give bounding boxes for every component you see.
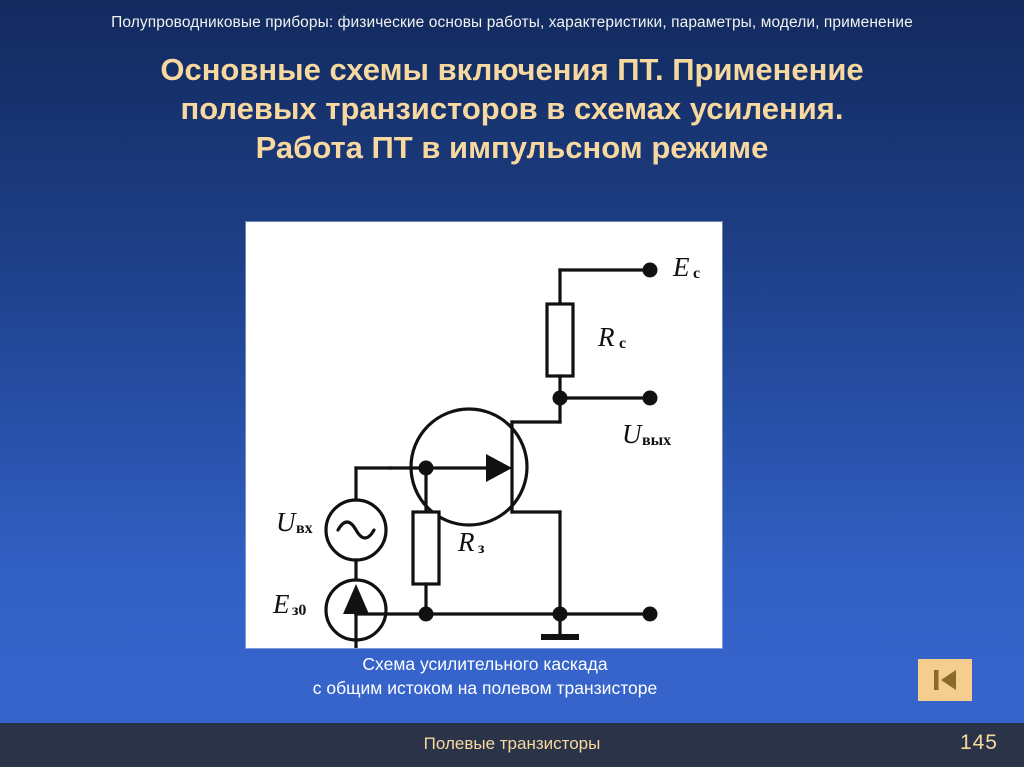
slide-title: Основные схемы включения ПТ. Применение … (28, 50, 996, 167)
jfet-gate-arrow-icon (486, 454, 512, 482)
footer-page-number: 145 (960, 731, 998, 755)
title-line-3: Работа ПТ в импульсном режиме (28, 128, 996, 167)
label-uvyh-sub: вых (642, 432, 671, 449)
junction-gate (419, 461, 434, 476)
course-subtitle: Полупроводниковые приборы: физические ос… (111, 14, 913, 32)
previous-first-icon (929, 667, 961, 693)
first-slide-button[interactable] (918, 659, 972, 701)
resistor-rg-body (413, 512, 439, 584)
presentation-slide: Полупроводниковые приборы: физические ос… (0, 0, 1024, 767)
caption-line-2: с общим истоком на полевом транзисторе (162, 676, 808, 700)
label-ez0-sub: з0 (292, 602, 306, 619)
label-uvx-sub: вх (296, 520, 313, 537)
resistor-rc-body (547, 304, 573, 376)
terminal-common (643, 607, 658, 622)
label-rg: R (457, 527, 475, 557)
terminal-uvyh (643, 391, 658, 406)
junction-drain (553, 391, 568, 406)
caption-line-1: Схема усилительного каскада (162, 652, 808, 676)
label-ec-sub: с (693, 265, 700, 282)
label-ec: E (672, 252, 690, 282)
label-rc-sub: с (619, 335, 626, 352)
junction-bottom-rg (419, 607, 434, 622)
label-rg-sub: з (478, 540, 485, 557)
slide-header: Полупроводниковые приборы: физические ос… (0, 14, 1024, 32)
label-rc: R (597, 322, 615, 352)
circuit-schematic: E с R с U вых U вх E з0 R з (246, 222, 722, 648)
terminal-ec (643, 263, 658, 278)
label-uvx: U (276, 507, 297, 537)
title-line-1: Основные схемы включения ПТ. Применение (28, 50, 996, 89)
junction-bottom-source (553, 607, 568, 622)
title-line-2: полевых транзисторов в схемах усиления. (28, 89, 996, 128)
label-ez0: E (272, 589, 290, 619)
schematic-labels: E с R с U вых U вх E з0 R з (272, 252, 700, 619)
footer-section-title: Полевые транзисторы (0, 734, 1024, 754)
circuit-diagram-panel: E с R с U вых U вх E з0 R з (246, 222, 722, 648)
label-uvyh: U (622, 419, 643, 449)
slide-footer: Полевые транзисторы 145 (0, 723, 1024, 767)
figure-caption: Схема усилительного каскада с общим исто… (162, 652, 808, 700)
